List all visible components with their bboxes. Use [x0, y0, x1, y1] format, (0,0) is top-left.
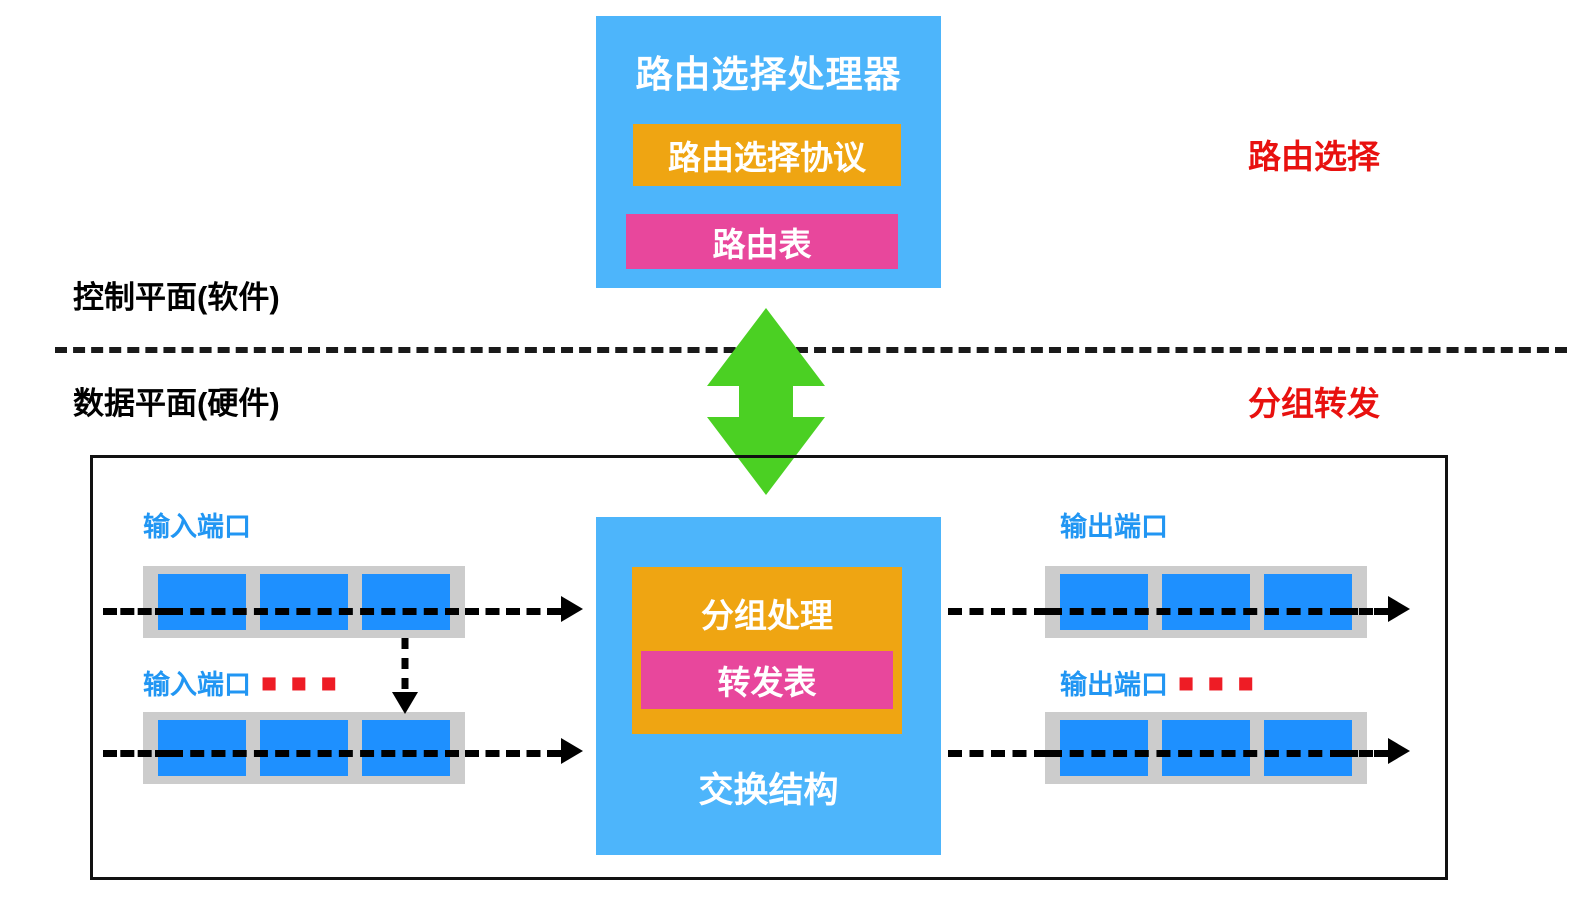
output-flow-line-2-right	[1344, 750, 1388, 757]
routing-protocol-box: 路由选择协议	[633, 124, 901, 186]
dashed-flow-arrow-icon	[1388, 596, 1410, 622]
packet-processing-box: 分组处理 转发表	[632, 567, 902, 734]
port-card	[1162, 574, 1250, 630]
dashed-flow-arrow-icon	[561, 596, 583, 622]
output-port-label-2: 输出端口	[1060, 670, 1168, 700]
input-flow-line-1-right	[465, 608, 561, 615]
input-flow-line-1-mid	[169, 608, 459, 615]
routing-processor-box: 路由选择处理器 路由选择协议 路由表	[596, 16, 941, 288]
output-port-ellipsis-2: ■ ■ ■	[1178, 668, 1257, 698]
output-flow-line-2-mid	[1048, 750, 1344, 757]
forwarding-function-label: 分组转发	[1248, 377, 1380, 425]
input-flow-line-2-right	[465, 750, 561, 757]
diagram-canvas: 路由选择处理器 路由选择协议 路由表 路由选择 分组转发 控制平面(软件) 数据…	[0, 0, 1590, 914]
input-port-ellipsis-2: ■ ■ ■	[261, 668, 340, 698]
output-flow-line-1-left	[948, 608, 1048, 615]
input-port-label-1-wrap: 输入端口	[143, 505, 251, 544]
output-port-label-1-wrap: 输出端口	[1060, 505, 1168, 544]
input-port-group-1	[143, 566, 465, 638]
routing-table-box: 路由表	[626, 214, 898, 269]
port-card	[158, 574, 246, 630]
output-port-group-2	[1045, 712, 1367, 784]
port-card	[260, 574, 348, 630]
port-card	[1162, 720, 1250, 776]
input-port-label-2: 输入端口	[143, 670, 251, 700]
input-flow-line-2-left	[103, 750, 169, 757]
input-port-label-2-wrap: 输入端口■ ■ ■	[143, 663, 340, 702]
output-port-label-2-wrap: 输出端口■ ■ ■	[1060, 663, 1257, 702]
routing-function-label: 路由选择	[1248, 130, 1380, 178]
port-card	[362, 574, 450, 630]
output-flow-line-1-right	[1344, 608, 1388, 615]
control-plane-label: 控制平面(软件)	[73, 272, 280, 317]
port-card	[1060, 720, 1148, 776]
port-card	[260, 720, 348, 776]
forwarding-table-box: 转发表	[641, 651, 893, 709]
output-flow-line-2-left	[948, 750, 1048, 757]
input-flow-line-2-mid	[169, 750, 459, 757]
port-card	[1060, 574, 1148, 630]
input-port-label-1: 输入端口	[143, 512, 251, 542]
port-card	[362, 720, 450, 776]
data-plane-label: 数据平面(硬件)	[73, 378, 280, 423]
switch-fabric-label: 交换结构	[596, 762, 941, 813]
routing-processor-title: 路由选择处理器	[596, 44, 941, 98]
output-port-label-1: 输出端口	[1060, 512, 1168, 542]
internal-dashed-down-arrow-icon	[384, 638, 426, 718]
input-flow-line-1-left	[103, 608, 169, 615]
dashed-flow-arrow-icon	[561, 738, 583, 764]
port-card	[1264, 574, 1352, 630]
output-port-group-1	[1045, 566, 1367, 638]
input-port-group-2	[143, 712, 465, 784]
output-flow-line-1-mid	[1048, 608, 1344, 615]
port-card	[1264, 720, 1352, 776]
dashed-flow-arrow-icon	[1388, 738, 1410, 764]
switch-fabric-box: 分组处理 转发表 交换结构	[596, 517, 941, 855]
packet-processing-label: 分组处理	[632, 589, 902, 637]
port-card	[158, 720, 246, 776]
